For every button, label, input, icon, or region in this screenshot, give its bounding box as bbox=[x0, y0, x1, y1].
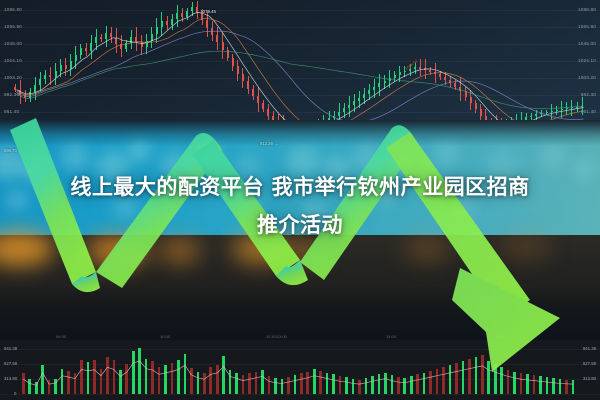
headline-line-2: 推介活动 bbox=[0, 206, 600, 244]
stock-news-banner: 1086.80 1065.90 1045.00 1024.10 1003.20 … bbox=[0, 0, 600, 400]
page-title: 线上最大的配资平台 我市举行钦州产业园区招商 推介活动 bbox=[0, 168, 600, 244]
headline-line-1: 线上最大的配资平台 我市举行钦州产业园区招商 bbox=[70, 175, 529, 199]
